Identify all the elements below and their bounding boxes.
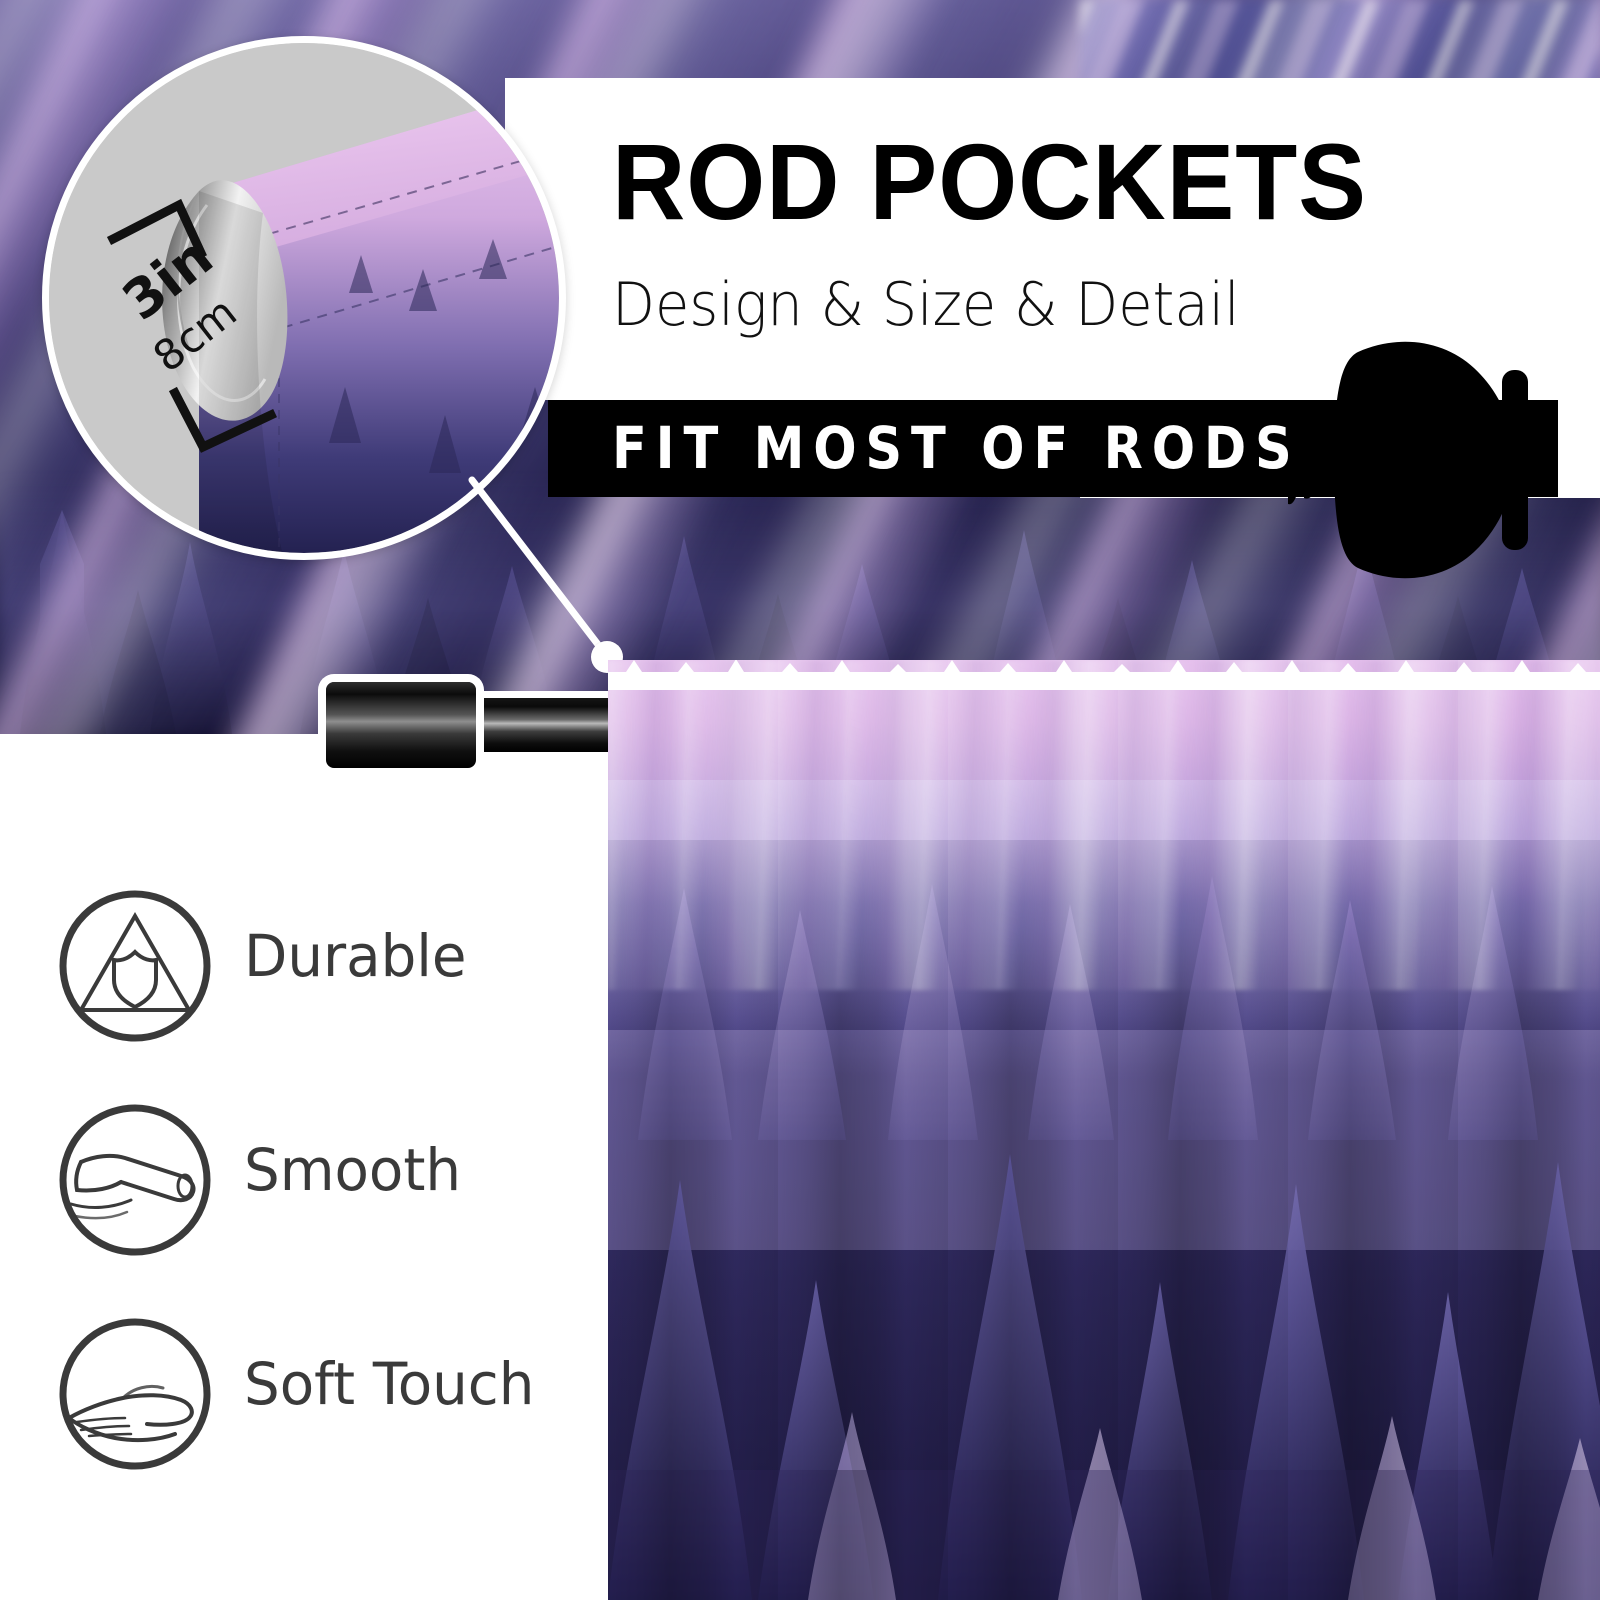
product-infographic: ROD POCKETS Design & Size & Detail FIT M… [0,0,1600,1600]
feature-item-durable: Durable [48,886,568,1066]
page-subtitle: Design & Size & Detail [612,275,1240,335]
feature-label-smooth: Smooth [244,1136,461,1204]
feature-item-smooth: Smooth [48,1100,568,1280]
curtain-pleat-tips [608,660,1600,690]
rod-end-cap [326,682,476,768]
feature-list: Durable Smooth Soft T [48,880,568,1500]
banner-label: FIT MOST OF RODS [612,413,1301,483]
feature-label-soft-touch: Soft Touch [244,1350,534,1418]
feature-label-durable: Durable [244,922,467,990]
feature-item-soft-touch: Soft Touch [48,1314,568,1494]
shield-triangle-icon [55,886,215,1046]
page-title: ROD POCKETS [612,128,1367,236]
open-hand-icon [55,1314,215,1474]
rolled-fabric-icon [55,1100,215,1260]
sheer-curtain-panel [608,660,1600,1600]
curtain-fold-shading [608,660,1600,1600]
curtain-rod-left-end [312,664,642,784]
